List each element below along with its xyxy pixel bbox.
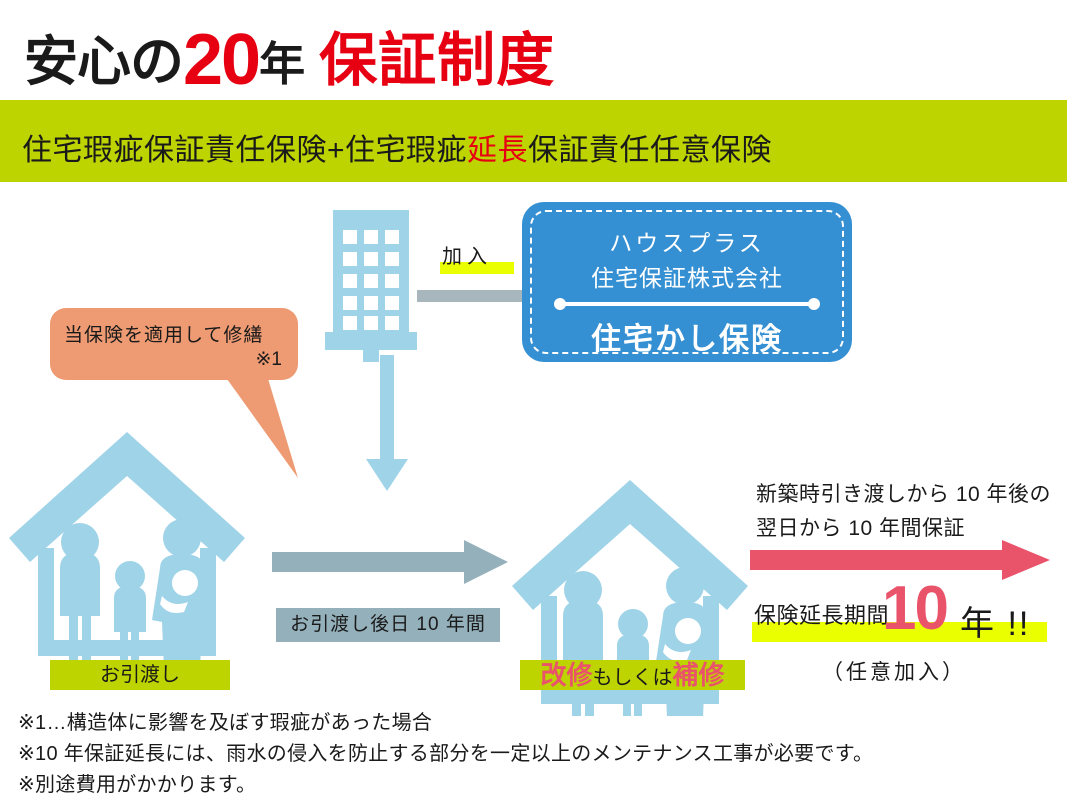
footnote-2: ※10 年保証延長には、雨水の侵入を防止する部分を一定以上のメンテナンス工事が必… [18, 739, 873, 770]
insurer-divider [560, 302, 814, 306]
banner-subtitle: 住宅瑕疵保証責任保険+住宅瑕疵延長保証責任任意保険 [22, 125, 772, 169]
insurer-company-line1: ハウスプラス [522, 224, 852, 258]
house2-label-word2: 補修 [673, 660, 725, 690]
extension-years-unit: 年 !! [960, 596, 1030, 645]
house2-label: 改修もしくは補修 [520, 660, 745, 690]
down-arrow-icon [362, 355, 412, 493]
bubble-line1: 当保険を適用して修繕 [64, 320, 263, 347]
footnotes: ※1…構造体に影響を及ぼす瑕疵があった場合 ※10 年保証延長には、雨水の侵入を… [18, 708, 873, 800]
insurer-product-name: 住宅かし保険 [522, 314, 852, 358]
repair-speech-bubble: 当保険を適用して修繕 ※1 [50, 308, 298, 380]
title-prefix: 安心の [24, 32, 183, 92]
banner-part-2: 保証責任任意保険 [528, 134, 772, 167]
footnote-3: ※別途費用がかかります。 [18, 770, 873, 800]
infographic-canvas: 安心の20年保証制度 住宅瑕疵保証責任保険+住宅瑕疵延長保証責任任意保険 加入 … [0, 0, 1067, 800]
extension-years-number: 10 [882, 578, 947, 640]
connector-line [417, 290, 535, 302]
optional-enrollment-note: （任意加入） [822, 656, 966, 686]
bubble-line2: ※1 [256, 348, 283, 371]
timeline-arrow-gray-icon [272, 540, 508, 586]
extension-note-line2: 翌日から 10 年間保証 [756, 512, 965, 542]
page-title: 安心の20年保証制度 [24, 24, 555, 96]
house-with-family-icon-1 [2, 420, 252, 668]
footnote-1: ※1…構造体に影響を及ぼす瑕疵があった場合 [18, 708, 873, 739]
banner-part-1: 住宅瑕疵保証責任保険+住宅瑕疵 [22, 134, 467, 167]
banner-emphasis: 延長 [467, 134, 528, 167]
insurer-box: ハウスプラス 住宅保証株式会社 住宅かし保険 [522, 202, 852, 362]
title-unit: 年 [259, 38, 305, 90]
house2-label-middle: もしくは [593, 667, 673, 689]
title-suffix: 保証制度 [319, 28, 555, 93]
house1-label: お引渡し [50, 660, 230, 690]
extension-note-line1: 新築時引き渡しから 10 年後の [756, 478, 1051, 508]
extension-period-label: 保険延長期間 [754, 598, 889, 630]
insurer-company-line2: 住宅保証株式会社 [522, 259, 852, 293]
title-number: 20 [183, 20, 259, 100]
apartment-building-icon [325, 210, 417, 355]
house2-label-word1: 改修 [540, 660, 592, 690]
join-label: 加入 [442, 240, 492, 269]
gray-arrow-label: お引渡し後日 10 年間 [276, 608, 500, 642]
